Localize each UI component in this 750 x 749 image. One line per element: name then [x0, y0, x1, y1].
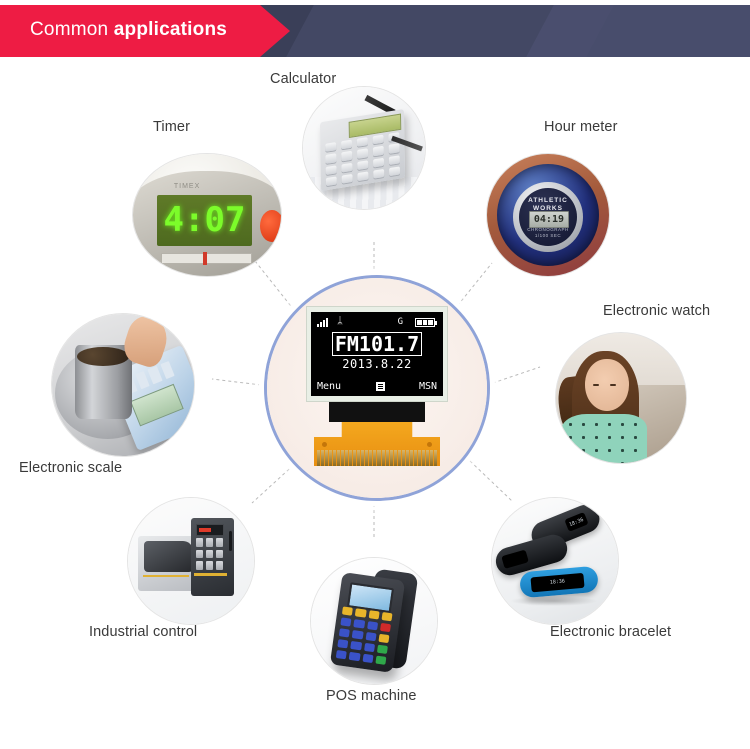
bluetooth-icon: ᛦ: [337, 317, 343, 327]
page-title: Common applications: [30, 19, 227, 41]
girl-shirt: [561, 414, 647, 463]
oled-glass-skirt: [329, 402, 425, 422]
hour-meter-photo[interactable]: ATHLETIC WORKS 04:19 CHRONOGRAPH 1/100 S…: [487, 154, 609, 276]
label-industrial-control: Industrial control: [89, 624, 197, 640]
signal-icon: [317, 318, 328, 327]
bracelet-screen-c-time: 18:36: [549, 578, 565, 585]
fpc-hole-right: [427, 442, 432, 447]
oled-main-area: FM101.7 2013.8.22: [311, 332, 443, 372]
oled-status-bar: ᛦ G: [317, 317, 437, 328]
node-calculator[interactable]: Calculator: [303, 87, 425, 209]
timer-body: TIMEX 4:07: [133, 171, 281, 276]
hour-meter-lcd: 04:19: [529, 211, 570, 228]
industrial-vent-slot: [229, 531, 232, 551]
label-calculator: Calculator: [270, 71, 336, 87]
page-title-plain: Common: [30, 19, 114, 40]
timer-red-button: [260, 210, 281, 242]
label-electronic-watch: Electronic watch: [603, 303, 710, 319]
scale-contents: [77, 347, 129, 366]
node-timer[interactable]: Timer TIMEX 4:07: [133, 154, 281, 276]
bracelet-screen-a: 18:36: [564, 512, 588, 532]
header-stripe-c: [526, 5, 750, 57]
electronic-bracelet-photo[interactable]: 18:36 18:36: [492, 498, 618, 624]
hour-meter-sub-line1: CHRONOGRAPH: [527, 227, 569, 232]
oled-softkey-bar: Menu MSN: [317, 381, 437, 392]
hour-meter-brand-line1: ATHLETIC: [528, 197, 568, 204]
page-title-bold: applications: [114, 19, 227, 40]
industrial-window: [144, 541, 192, 572]
connector-electronic-bracelet: [470, 461, 512, 501]
pos-body: [330, 572, 405, 673]
list-icon[interactable]: [376, 382, 385, 391]
industrial-control-photo[interactable]: [128, 498, 254, 624]
fpc-body: [314, 422, 440, 466]
industrial-stripe-left: [143, 575, 189, 577]
electronic-scale-photo[interactable]: [52, 314, 194, 456]
hour-meter-sub-line2: 1/100 SEC: [535, 233, 561, 238]
timer-digits: 4:07: [157, 195, 251, 247]
girl-eye-left: [593, 384, 599, 386]
calculator-keypad: [325, 132, 400, 187]
industrial-display: [196, 524, 224, 535]
hour-meter-body: ATHLETIC WORKS 04:19 CHRONOGRAPH 1/100 S…: [497, 164, 599, 266]
bracelet-shadow: [510, 596, 598, 606]
oled-fpc-cable: [314, 422, 440, 478]
timer-brand-text: TIMEX: [174, 183, 200, 190]
oled-softkey-right[interactable]: MSN: [419, 381, 437, 392]
battery-icon: [415, 318, 435, 327]
pos-keypad: [336, 606, 393, 665]
node-pos-machine[interactable]: POS machine: [311, 558, 437, 684]
oled-date-readout: 2013.8.22: [311, 357, 443, 372]
connector-electronic-watch: [487, 367, 540, 385]
node-industrial-control[interactable]: Industrial control: [128, 498, 254, 624]
node-hour-meter[interactable]: Hour meter ATHLETIC WORKS 04:19 CHRONOGR…: [487, 154, 609, 276]
bracelet-screen-a-time: 18:36: [568, 517, 584, 528]
industrial-stripe-right: [194, 573, 227, 576]
calculator-body: [320, 109, 406, 191]
girl-shirt-dots: [561, 414, 647, 463]
connector-industrial-control: [252, 461, 298, 503]
fpc-hole-left: [322, 442, 327, 447]
girl-eye-right: [610, 384, 616, 386]
fpc-pins: [317, 450, 437, 466]
oled-screen: ᛦ G FM101.7 2013.8.22 Menu MSN: [311, 312, 443, 396]
industrial-control-panel: [191, 518, 234, 596]
label-electronic-bracelet: Electronic bracelet: [550, 624, 671, 640]
bracelet-screen-c: 18:36: [530, 572, 584, 591]
hour-meter-face: ATHLETIC WORKS 04:19 CHRONOGRAPH 1/100 S…: [519, 188, 578, 247]
industrial-keypad: [196, 538, 223, 569]
page-header: Common applications: [0, 0, 750, 61]
label-electronic-scale: Electronic scale: [19, 460, 122, 476]
calculator-photo[interactable]: [303, 87, 425, 209]
applications-diagram: Timer TIMEX 4:07 Calculator: [0, 61, 750, 749]
gprs-icon: G: [398, 317, 403, 327]
oled-softkey-left[interactable]: Menu: [317, 381, 341, 392]
connector-electronic-scale: [212, 379, 261, 385]
node-electronic-bracelet[interactable]: Electronic bracelet 18:36 18:36: [492, 498, 618, 624]
node-electronic-scale[interactable]: Electronic scale: [52, 314, 194, 456]
label-hour-meter: Hour meter: [544, 119, 618, 135]
hour-meter-bezel: ATHLETIC WORKS 04:19 CHRONOGRAPH 1/100 S…: [513, 182, 583, 252]
girl-face: [585, 359, 629, 411]
bracelet-screen-b: [501, 550, 528, 569]
electronic-watch-photo[interactable]: [556, 333, 686, 463]
timer-photo[interactable]: TIMEX 4:07: [133, 154, 281, 276]
timer-lcd: 4:07: [157, 195, 251, 247]
center-product-circle[interactable]: ᛦ G FM101.7 2013.8.22 Menu MSN: [264, 275, 490, 501]
oled-bezel: ᛦ G FM101.7 2013.8.22 Menu MSN: [306, 306, 448, 402]
hour-meter-subtext: CHRONOGRAPH 1/100 SEC: [519, 227, 578, 239]
node-electronic-watch[interactable]: Electronic watch: [556, 333, 686, 463]
oled-fm-readout: FM101.7: [332, 332, 422, 356]
oled-display-module[interactable]: ᛦ G FM101.7 2013.8.22 Menu MSN: [306, 306, 448, 478]
label-pos-machine: POS machine: [326, 688, 417, 704]
industrial-printer-shell: [138, 536, 198, 591]
scale-metal-cup: [75, 345, 132, 419]
timer-slider: [161, 253, 253, 264]
pos-machine-photo[interactable]: [311, 558, 437, 684]
label-timer: Timer: [153, 119, 190, 135]
center-circle-inner: ᛦ G FM101.7 2013.8.22 Menu MSN: [267, 278, 487, 498]
